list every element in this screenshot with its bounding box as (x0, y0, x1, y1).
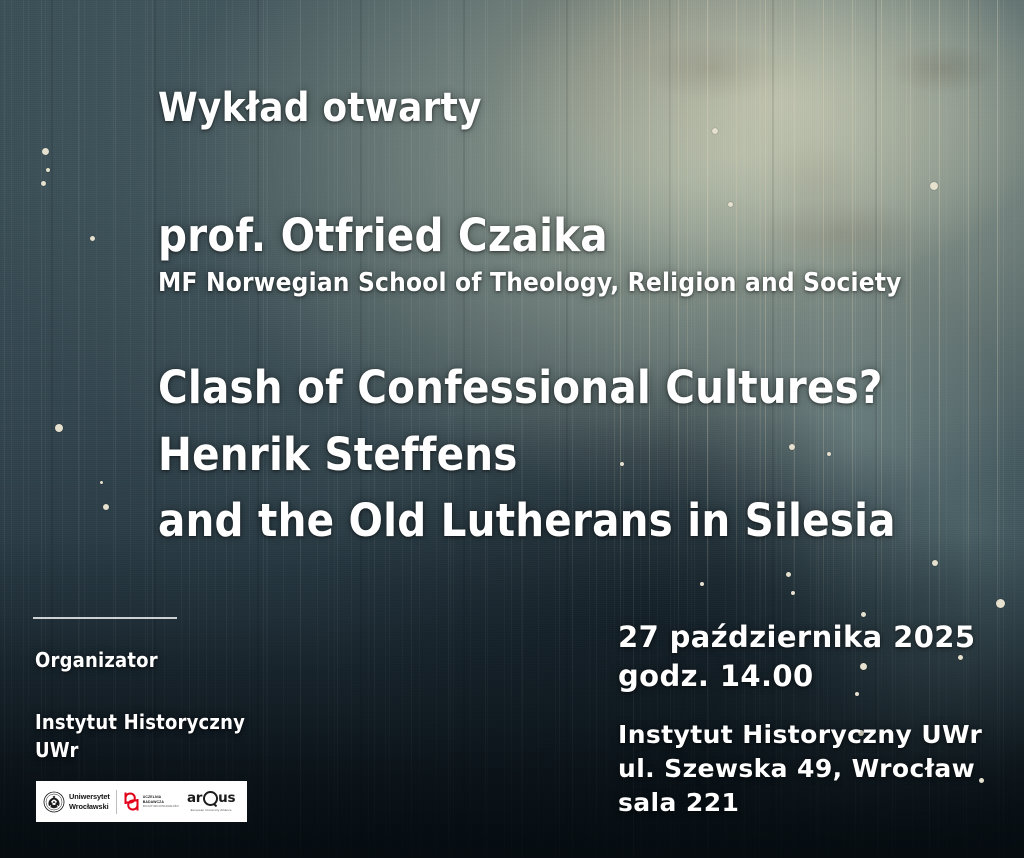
logo-uwr-label: Uniwersytet Wrocławski (69, 792, 110, 810)
eagle-crest-icon (43, 791, 65, 813)
logo-uczelnia-badawcza: UCZELNIA BADAWCZA INICJATYWA DOSKONAŁOŚC… (123, 792, 179, 811)
event-datetime: 27 października 2025 godz. 14.00 (618, 618, 975, 695)
organizer-divider (33, 617, 177, 619)
arqus-q-icon (203, 791, 218, 806)
poster-kicker: Wykład otwarty (158, 88, 482, 128)
logo-arqus: ar us European University Alliance (187, 791, 235, 812)
hb-monogram-icon (123, 792, 140, 811)
speaker-name: prof. Otfried Czaika (158, 213, 608, 258)
logo-uniwersytet-wroclawski: Uniwersytet Wrocławski (43, 791, 110, 813)
logo-uczelnia-badawcza-label: UCZELNIA BADAWCZA (143, 795, 179, 805)
arqus-wordmark: ar us (187, 791, 235, 806)
logo-divider (116, 790, 117, 814)
logo-strip: Uniwersytet Wrocławski UCZELNIA BADAWCZA… (36, 781, 247, 822)
poster-content: Wykład otwarty prof. Otfried Czaika MF N… (0, 0, 1024, 858)
logo-uczelnia-badawcza-sub: INICJATYWA DOSKONAŁOŚCI (143, 805, 179, 808)
arqus-word-post: us (218, 792, 235, 806)
lecture-title: Clash of Confessional Cultures? Henrik S… (158, 355, 896, 555)
organizer-name: Instytut Historyczny UWr (35, 708, 245, 765)
organizer-label: Organizator (35, 650, 158, 670)
event-venue: Instytut Historyczny UWr ul. Szewska 49,… (618, 718, 982, 820)
arqus-tagline: European University Alliance (191, 808, 232, 812)
speaker-affiliation: MF Norwegian School of Theology, Religio… (158, 270, 902, 296)
arqus-word-pre: ar (187, 792, 202, 806)
lecture-poster: Wykład otwarty prof. Otfried Czaika MF N… (0, 0, 1024, 858)
